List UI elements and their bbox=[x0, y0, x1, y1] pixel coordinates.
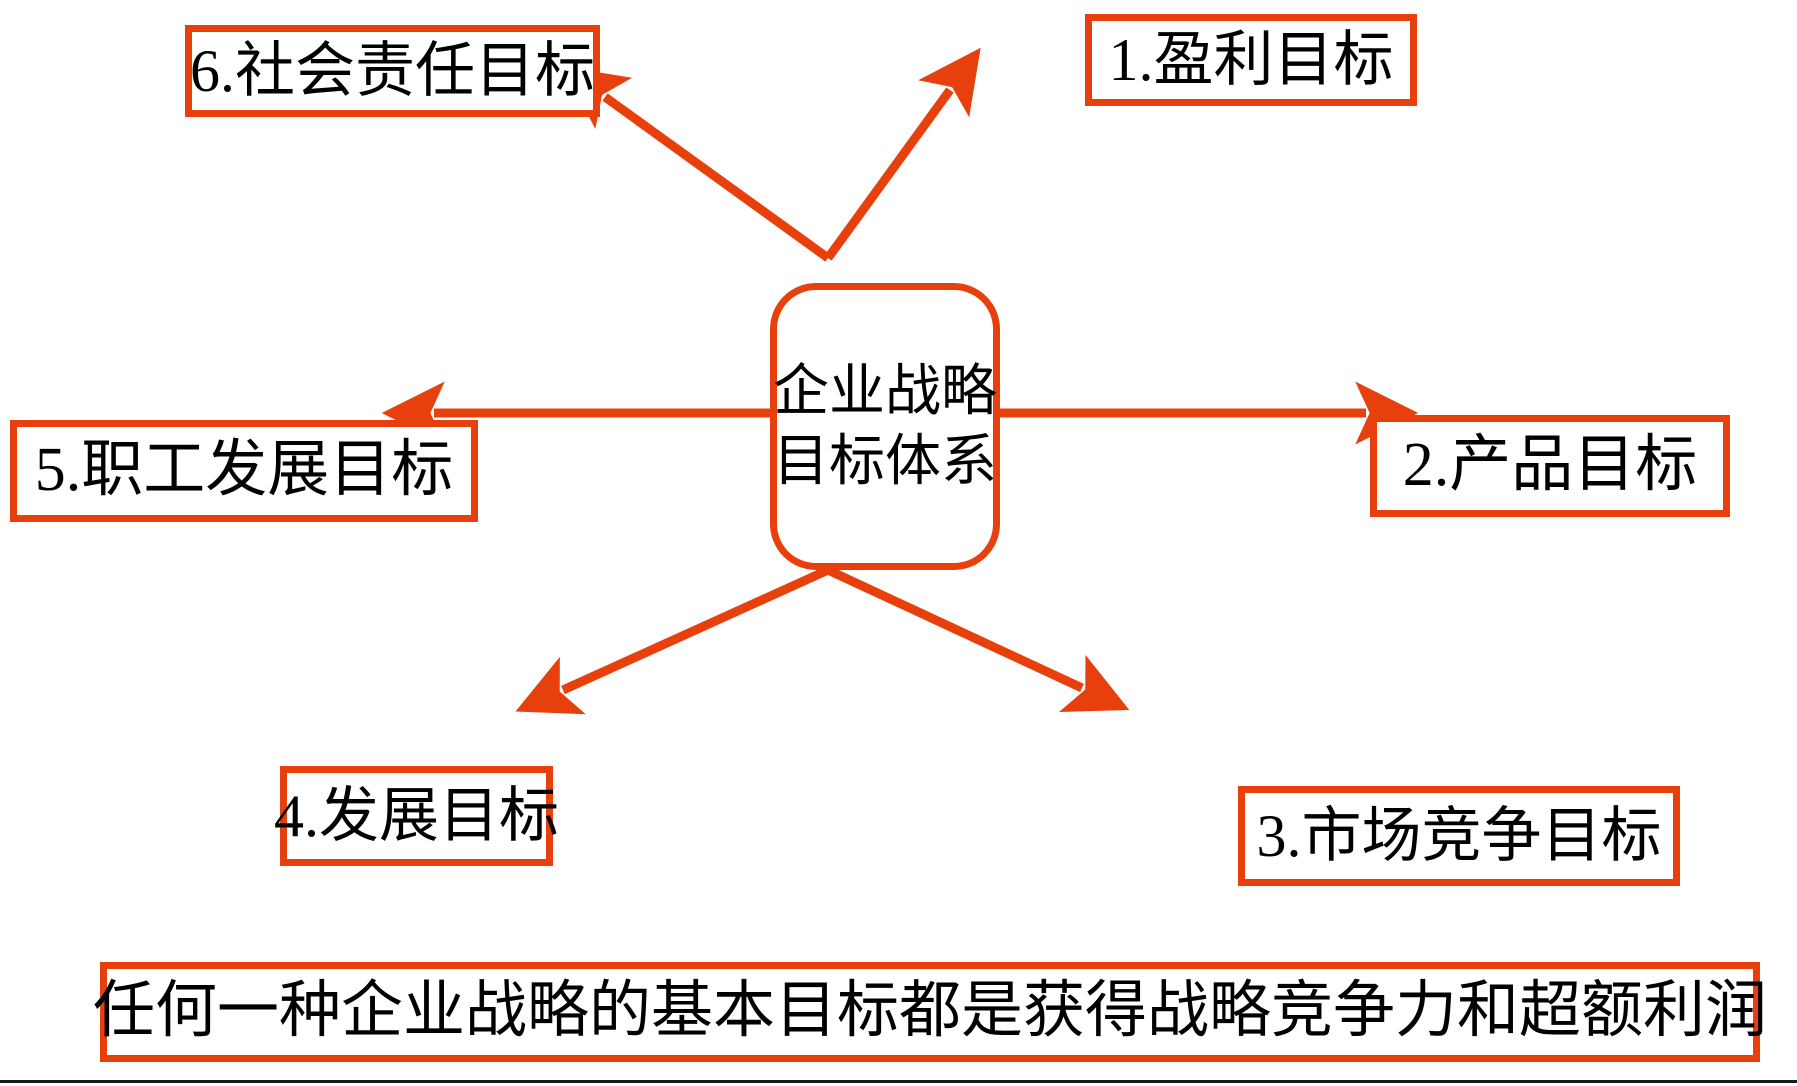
node-goal-5-label: 5.职工发展目标 bbox=[35, 438, 454, 503]
connector-center-to-goal4 bbox=[563, 570, 828, 690]
node-center-label-line1: 企业战略 bbox=[773, 357, 997, 427]
connector-center-to-goal1 bbox=[828, 90, 950, 258]
node-goal-6-label: 6.社会责任目标 bbox=[190, 40, 595, 103]
node-goal-2-label: 2.产品目标 bbox=[1403, 433, 1698, 498]
connector-center-to-goal3 bbox=[828, 570, 1082, 688]
node-goal-1[interactable]: 1.盈利目标 bbox=[1085, 14, 1417, 106]
node-center-label-line2: 目标体系 bbox=[773, 427, 997, 497]
summary-banner[interactable]: 任何一种企业战略的基本目标都是获得战略竞争力和超额利润 bbox=[100, 962, 1760, 1062]
node-goal-1-label: 1.盈利目标 bbox=[1109, 29, 1394, 92]
node-goal-6[interactable]: 6.社会责任目标 bbox=[185, 25, 600, 117]
node-goal-4-label: 4.发展目标 bbox=[274, 785, 559, 848]
node-goal-3[interactable]: 3.市场竞争目标 bbox=[1238, 786, 1680, 886]
summary-banner-label: 任何一种企业战略的基本目标都是获得战略竞争力和超额利润 bbox=[93, 979, 1767, 1044]
node-goal-3-label: 3.市场竞争目标 bbox=[1257, 805, 1662, 868]
page-bottom-rule bbox=[0, 1080, 1797, 1083]
diagram-canvas: 6.社会责任目标 1.盈利目标 5.职工发展目标 2.产品目标 4.发展目标 3… bbox=[0, 0, 1797, 1086]
node-goal-5[interactable]: 5.职工发展目标 bbox=[10, 420, 478, 522]
node-goal-4[interactable]: 4.发展目标 bbox=[280, 766, 553, 866]
connector-center-to-goal6 bbox=[605, 97, 828, 258]
node-center-strategy-goal-system[interactable]: 企业战略 目标体系 bbox=[770, 283, 1000, 570]
node-goal-2[interactable]: 2.产品目标 bbox=[1370, 415, 1730, 517]
